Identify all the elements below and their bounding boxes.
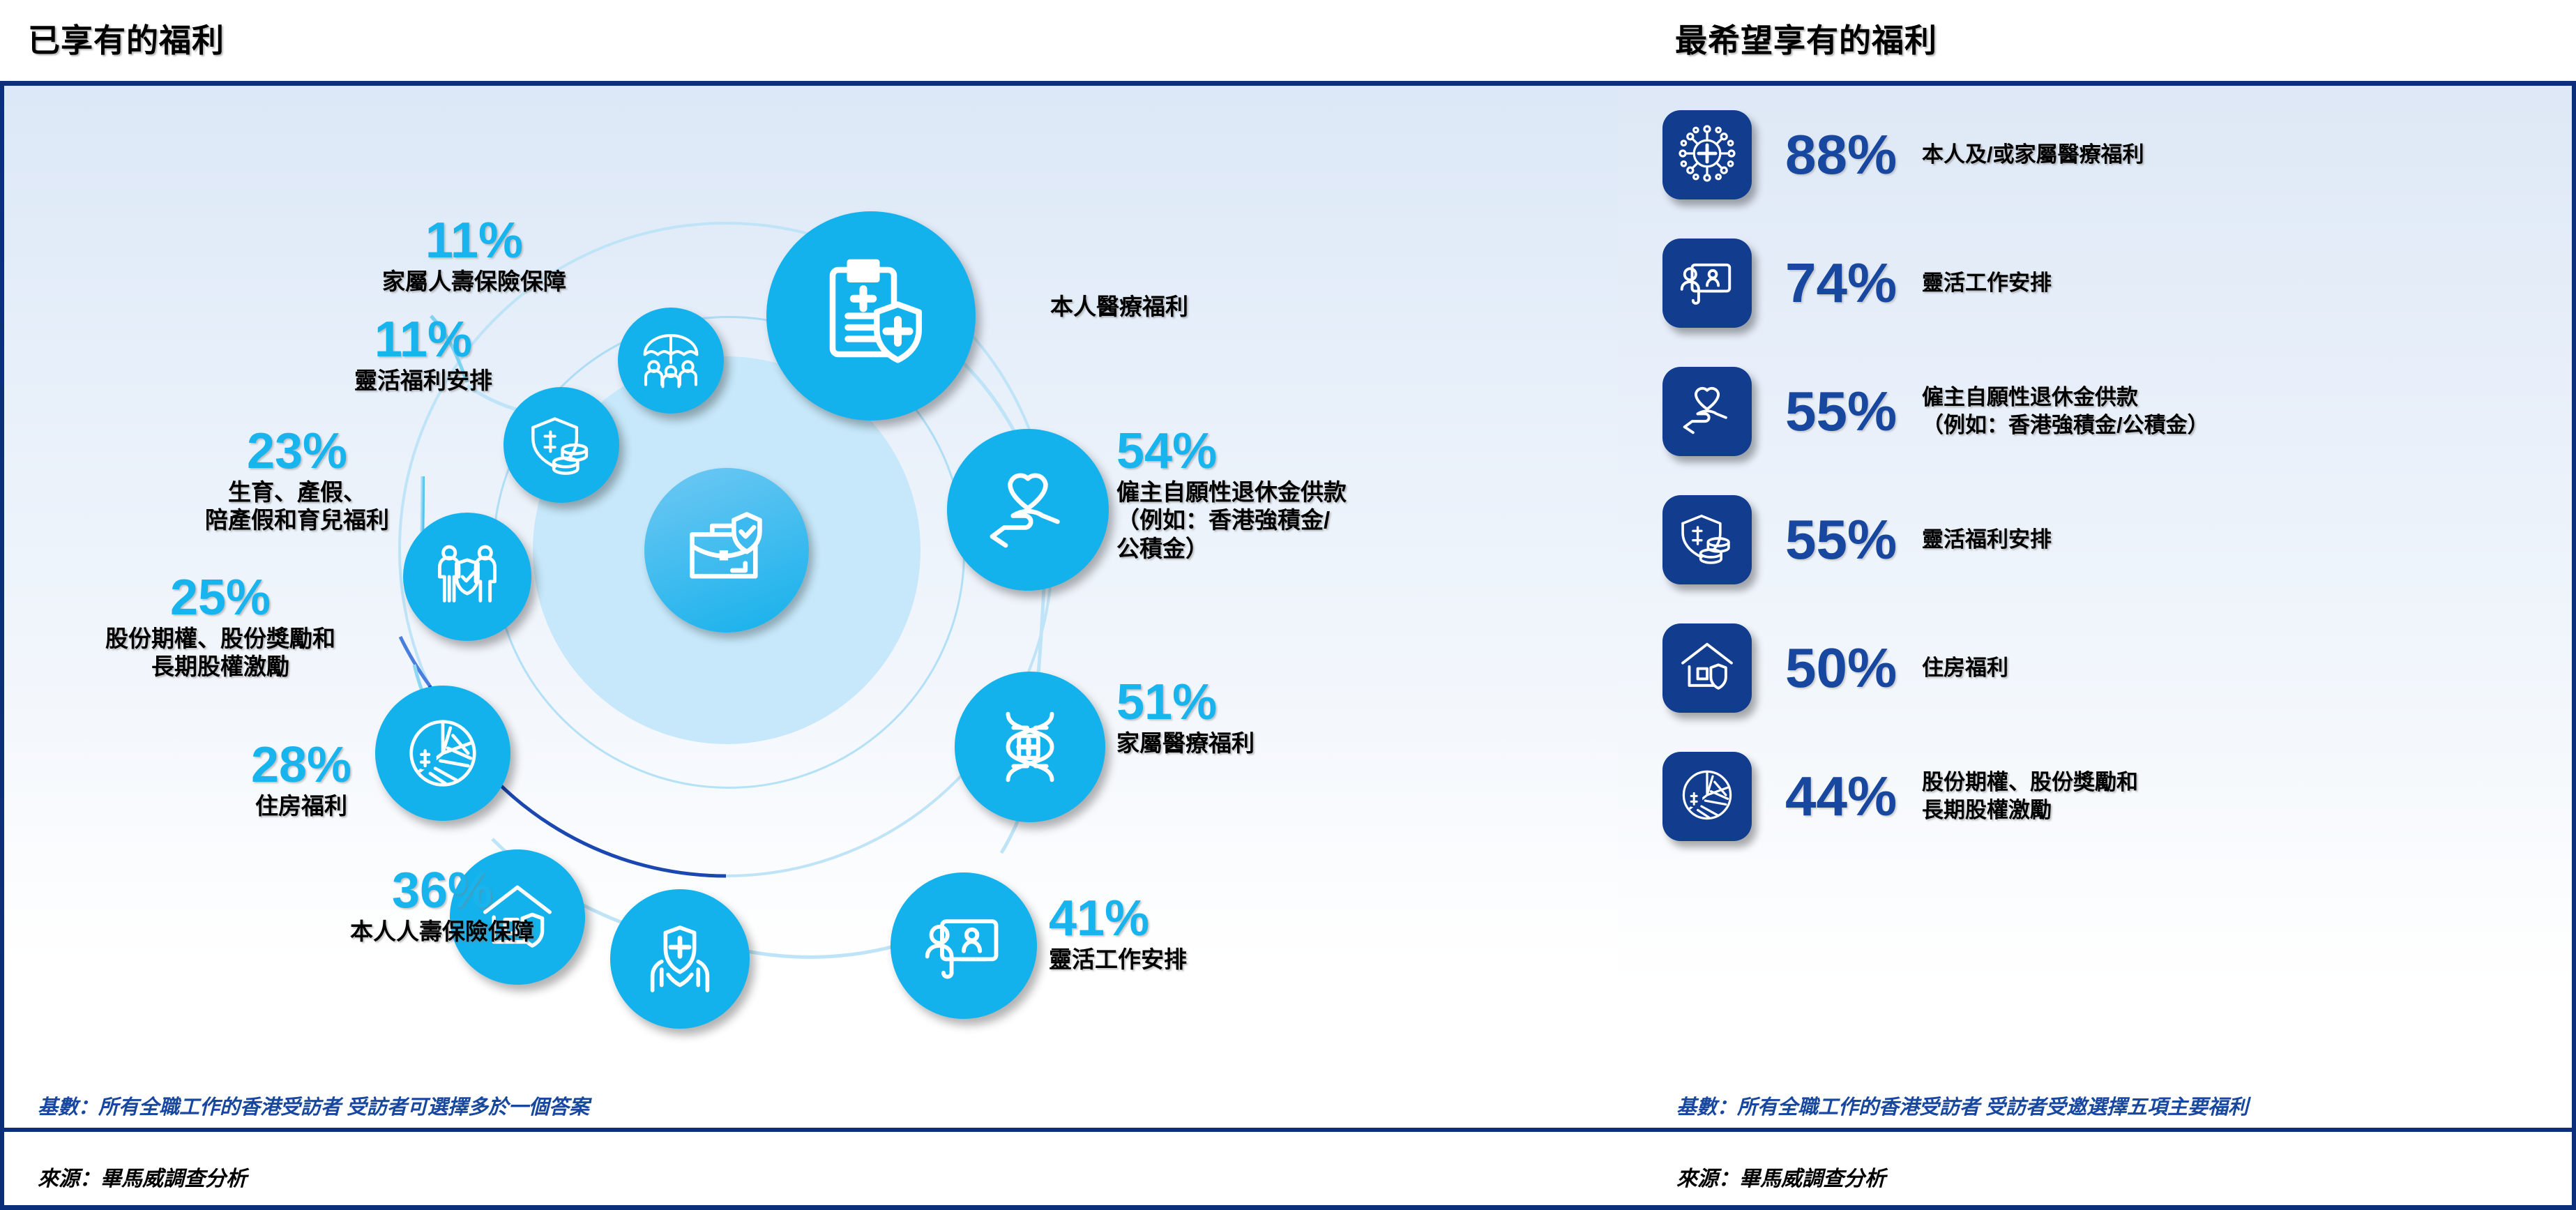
wish-label: 股份期權、股份獎勵和 長期股權激勵 — [1922, 769, 2138, 825]
right-base-note: 基數：所有全職工作的香港受訪者 受訪者受邀選擇五項主要福利 — [1676, 1095, 2248, 1121]
node-hands-shield-cross[interactable] — [610, 889, 750, 1029]
node-shield-coins[interactable] — [503, 387, 619, 503]
family-shield-icon — [429, 538, 506, 615]
left-baseline-rule — [0, 1205, 1618, 1210]
stat-flexible-work: 41% 靈活工作安排 — [1049, 895, 1439, 974]
stat-label: 生育、產假、 陪產假和育兒福利 — [123, 478, 471, 535]
wish-label: 僱主自願性退休金供款 （例如：香港強積金/公積金） — [1922, 384, 2209, 440]
stat-label-own-medical: 本人醫療福利 — [1050, 288, 1188, 322]
right-source-text: 來源：畢馬威調查分析 — [1676, 1161, 1886, 1192]
umbrella-family-icon — [639, 328, 703, 393]
stat-percent: 54% — [1116, 428, 1598, 476]
pie-dollar-icon — [1677, 765, 1737, 829]
stat-share-options: 25% 股份期權、股份獎勵和 長期股權激勵 — [18, 574, 423, 681]
right-panel-body: 88% 本人及/或家屬醫療福利 74% 靈 — [1618, 86, 2576, 1210]
node-dna-cross[interactable] — [955, 672, 1105, 822]
left-panel-body: 11% 家屬人壽保險保障 11% 靈活福利安排 23% 生育、產假、 陪產假和育… — [0, 86, 1618, 1210]
stat-label: 僱主自願性退休金供款 （例如：香港強積金/ 公積金） — [1116, 478, 1598, 563]
right-panel-title: 最希望享有的福利 — [1675, 15, 1937, 61]
wished-benefits-panel: 最希望享有的福利 — [1618, 0, 2576, 1210]
wish-row[interactable]: 55% 靈活福利安排 — [1662, 495, 2052, 584]
stat-employer-pension: 54% 僱主自願性退休金供款 （例如：香港強積金/ 公積金） — [1116, 428, 1598, 563]
shield-coins-icon-tile — [1662, 495, 1752, 584]
node-heart-hand[interactable] — [947, 429, 1109, 591]
wish-row[interactable]: 44% 股份期權、股份獎勵和 長期股權激勵 — [1662, 752, 2138, 841]
left-panel-header: 已享有的福利 — [0, 0, 1618, 82]
heart-hand-icon — [1677, 380, 1737, 444]
stat-label: 住房福利 — [141, 792, 462, 820]
wish-percent: 55% — [1785, 385, 1922, 438]
remote-work-icon — [1677, 252, 1737, 315]
wish-label: 靈活工作安排 — [1922, 269, 2052, 297]
stat-label: 家屬醫療福利 — [1116, 729, 1535, 757]
wish-percent: 44% — [1785, 770, 1922, 823]
benefits-orbit-diagram: 11% 家屬人壽保險保障 11% 靈活福利安排 23% 生育、產假、 陪產假和育… — [4, 86, 1618, 1132]
wish-row[interactable]: 74% 靈活工作安排 — [1662, 239, 2052, 328]
stat-percent: 23% — [123, 428, 471, 476]
dna-cross-icon — [986, 703, 1074, 791]
node-clipboard-medical-shield[interactable] — [766, 211, 976, 421]
stat-percent: 28% — [141, 741, 462, 789]
stat-housing: 28% 住房福利 — [141, 741, 462, 820]
enjoyed-benefits-panel: 已享有的福利 — [0, 0, 1618, 1210]
right-panel-header: 最希望享有的福利 — [1618, 0, 2576, 82]
house-shield-icon-tile — [1662, 623, 1752, 713]
wish-row[interactable]: 88% 本人及/或家屬醫療福利 — [1662, 110, 2144, 199]
left-panel-title: 已享有的福利 — [28, 15, 225, 61]
heart-hand-icon — [980, 462, 1075, 557]
remote-work-icon — [920, 902, 1007, 989]
remote-work-icon-tile — [1662, 239, 1752, 328]
medical-network-icon — [1677, 123, 1737, 187]
wish-label: 本人及/或家屬醫療福利 — [1922, 141, 2144, 169]
stat-label: 家屬人壽保險保障 — [300, 268, 649, 296]
heart-hand-icon-tile — [1662, 367, 1752, 456]
hands-shield-cross-icon — [638, 917, 722, 1001]
briefcase-shield-icon — [681, 503, 773, 598]
right-panel-footer: 來源：畢馬威調查分析 — [1618, 1132, 2576, 1210]
stat-parental-leave: 23% 生育、產假、 陪產假和育兒福利 — [123, 428, 471, 535]
wish-row[interactable]: 55% 僱主自願性退休金供款 （例如：香港強積金/公積金） — [1662, 367, 2209, 456]
wish-row[interactable]: 50% 住房福利 — [1662, 623, 2008, 713]
left-source-text: 來源：畢馬威調查分析 — [38, 1161, 247, 1192]
house-shield-icon — [1677, 637, 1737, 700]
left-base-note: 基數：所有全職工作的香港受訪者 受訪者可選擇多於一個答案 — [38, 1095, 589, 1121]
stat-label: 股份期權、股份獎勵和 長期股權激勵 — [18, 625, 423, 681]
stat-percent: 36% — [254, 867, 630, 915]
wish-percent: 50% — [1785, 642, 1922, 695]
stat-label: 靈活福利安排 — [259, 367, 587, 395]
wish-label: 住房福利 — [1922, 654, 2008, 682]
stat-percent: 11% — [300, 217, 649, 265]
stat-percent: 51% — [1116, 679, 1535, 727]
medical-network-icon-tile — [1662, 110, 1752, 199]
right-top-rule — [1618, 81, 2576, 86]
stat-dependant-medical: 51% 家屬醫療福利 — [1116, 679, 1535, 757]
stat-flexible-benefits: 11% 靈活福利安排 — [259, 316, 587, 395]
node-umbrella-family[interactable] — [618, 308, 724, 414]
stat-label: 本人人壽保險保障 — [254, 918, 630, 946]
stat-own-life-insurance: 36% 本人人壽保險保障 — [254, 867, 630, 946]
wish-percent: 88% — [1785, 128, 1922, 181]
pie-dollar-icon-tile — [1662, 752, 1752, 841]
clipboard-medical-shield-icon — [810, 255, 932, 377]
wish-percent: 55% — [1785, 513, 1922, 566]
shield-coins-icon — [1677, 508, 1737, 572]
wish-label: 靈活福利安排 — [1922, 526, 2052, 554]
stat-percent: 11% — [259, 316, 587, 364]
left-panel-footer: 來源：畢馬威調查分析 — [0, 1132, 1618, 1210]
shield-coins-icon — [526, 410, 596, 480]
wish-percent: 74% — [1785, 257, 1922, 310]
stat-family-life-insurance: 11% 家屬人壽保險保障 — [300, 217, 649, 296]
right-baseline-rule — [1618, 1205, 2576, 1210]
center-node — [644, 468, 809, 633]
left-top-rule — [0, 81, 1618, 86]
stat-percent: 25% — [18, 574, 423, 622]
stat-label: 靈活工作安排 — [1049, 946, 1439, 974]
stat-percent: 41% — [1049, 895, 1439, 943]
node-remote-work[interactable] — [891, 872, 1037, 1019]
